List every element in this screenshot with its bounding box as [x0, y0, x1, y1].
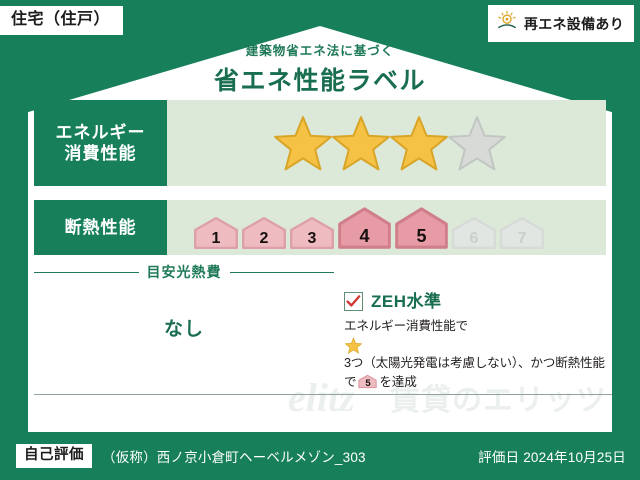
- zeh-desc-part1: エネルギー消費性能で: [344, 319, 468, 333]
- star-rating: [274, 115, 506, 171]
- category-chip: 住宅（住戸）: [0, 6, 123, 35]
- star-filled-icon: [332, 115, 390, 171]
- utility-cost-heading-text: 目安光熱費: [147, 262, 222, 282]
- insulation-house-number: 4: [337, 227, 392, 245]
- insulation-performance-value: 1234567: [167, 200, 606, 255]
- insulation-house-number: 7: [499, 231, 545, 247]
- star-empty-icon: [448, 115, 506, 171]
- insulation-house-number: 2: [241, 231, 287, 247]
- insulation-house-number: 3: [289, 231, 335, 247]
- star-filled-icon: [274, 115, 332, 171]
- utility-cost-section: 目安光熱費 なし: [34, 262, 334, 341]
- inline-house-number: 5: [358, 379, 377, 389]
- title-main: 省エネ性能ラベル: [0, 61, 640, 97]
- label-footer: 自己評価 （仮称）西ノ京小倉町ヘーベルメゾン_303 評価日 2024年10月2…: [0, 432, 640, 480]
- energy-performance-value: [167, 100, 606, 186]
- energy-label-line2: 消費性能: [65, 143, 137, 164]
- insulation-house-number: 6: [451, 231, 497, 247]
- solar-sun-icon: [496, 10, 518, 37]
- insulation-house-number: 1: [193, 231, 239, 247]
- insulation-performance-label-block: 断熱性能: [34, 200, 167, 255]
- footer-left-group: 自己評価 （仮称）西ノ京小倉町ヘーベルメゾン_303: [16, 444, 366, 468]
- energy-performance-label-block: エネルギー 消費性能: [34, 100, 167, 186]
- inline-star-icon: [345, 337, 362, 354]
- renewable-energy-badge: 再エネ設備あり: [488, 5, 634, 42]
- energy-performance-row: エネルギー 消費性能: [34, 100, 606, 186]
- renewable-energy-label: 再エネ設備あり: [524, 17, 624, 31]
- zeh-title: ZEH水準: [371, 293, 442, 310]
- zeh-description: エネルギー消費性能で 3つ（太陽光発電は考慮しない）、かつ断熱性能で 5 を達成: [344, 317, 612, 393]
- self-evaluation-chip: 自己評価: [16, 444, 92, 468]
- zeh-checkbox[interactable]: [344, 292, 363, 311]
- insulation-house-4: 4: [337, 206, 392, 250]
- evaluation-date: 評価日 2024年10月25日: [478, 446, 626, 466]
- label-title: 建築物省エネ法に基づく 省エネ性能ラベル: [0, 40, 640, 97]
- insulation-label: 断熱性能: [65, 217, 137, 238]
- title-subtitle: 建築物省エネ法に基づく: [0, 40, 640, 59]
- bottom-divider-rule: [34, 394, 612, 395]
- insulation-house-5: 5: [394, 206, 449, 250]
- insulation-scale: 1234567: [193, 206, 545, 250]
- zeh-desc-part3: を達成: [379, 375, 416, 389]
- heading-rule-right: [230, 272, 335, 273]
- zeh-heading: ZEH水準: [344, 292, 612, 311]
- energy-performance-label: 住宅（住戸） 再エネ設備あり 建築物省エネ法に基づく 省エネ性能ラベル: [0, 0, 640, 480]
- utility-cost-value: なし: [34, 314, 334, 341]
- building-name: （仮称）西ノ京小倉町ヘーベルメゾン_303: [102, 446, 366, 466]
- insulation-house-number: 5: [394, 227, 449, 245]
- heading-rule-left: [34, 272, 139, 273]
- insulation-house-6: 6: [451, 216, 497, 250]
- zeh-standard-block: ZEH水準 エネルギー消費性能で 3つ（太陽光発電は考慮しない）、かつ断熱性能で…: [344, 292, 612, 393]
- insulation-house-1: 1: [193, 216, 239, 250]
- energy-label-line1: エネルギー: [56, 122, 146, 143]
- utility-cost-heading: 目安光熱費: [34, 262, 334, 282]
- insulation-house-7: 7: [499, 216, 545, 250]
- insulation-house-2: 2: [241, 216, 287, 250]
- insulation-house-3: 3: [289, 216, 335, 250]
- inline-house-icon: 5: [358, 374, 377, 389]
- insulation-performance-row: 断熱性能 1234567: [34, 200, 606, 255]
- star-filled-icon: [390, 115, 448, 171]
